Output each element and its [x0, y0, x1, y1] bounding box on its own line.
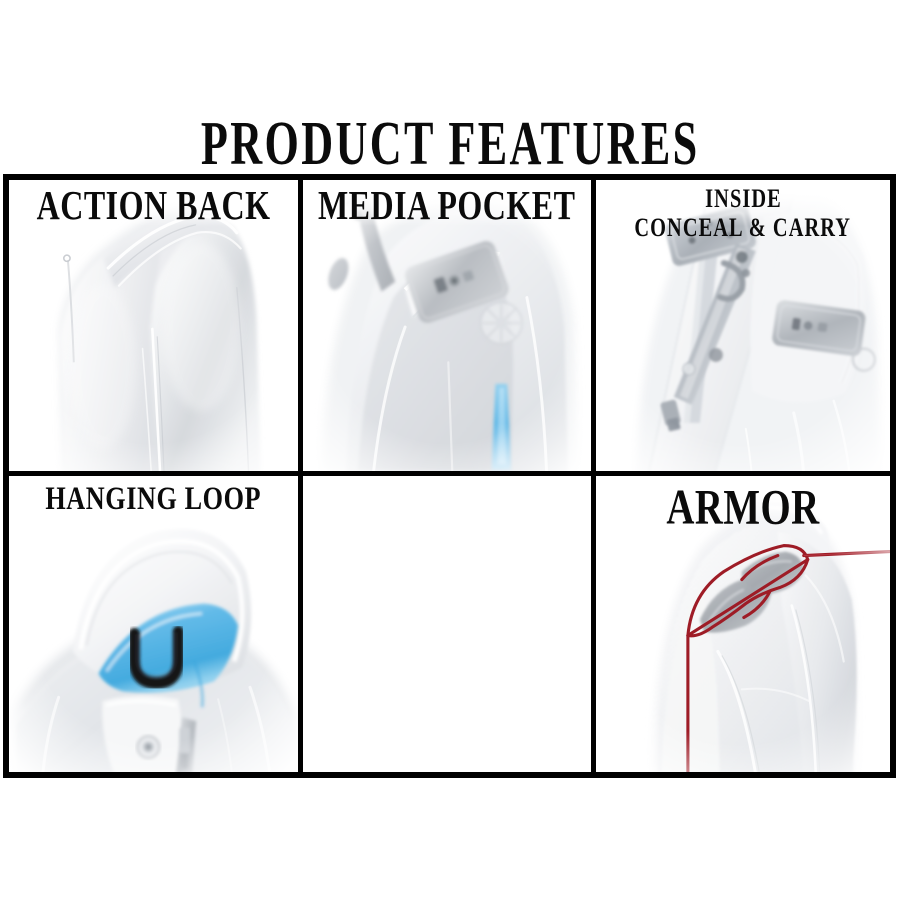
- page-title: PRODUCT FEATURES: [201, 114, 700, 176]
- action-back-photo: [9, 180, 298, 471]
- feature-cell-armor[interactable]: ARMOR: [596, 476, 890, 772]
- armor-photo: [596, 476, 890, 772]
- feature-cell-media-pocket[interactable]: MEDIA POCKET: [303, 180, 597, 476]
- media-pocket-photo: [303, 180, 592, 471]
- page-title-bar: PRODUCT FEATURES: [0, 114, 900, 161]
- hanging-loop-photo: [9, 476, 298, 772]
- feature-cell-inside-conceal-carry[interactable]: INSIDE CONCEAL & CARRY: [596, 180, 890, 476]
- feature-cell-action-back[interactable]: ACTION BACK: [9, 180, 303, 476]
- feature-cell-hanging-loop[interactable]: HANGING LOOP: [9, 476, 303, 772]
- feature-header-empty: [303, 482, 592, 500]
- product-features-grid: ACTION BACK: [3, 174, 896, 778]
- feature-cell-empty[interactable]: [303, 476, 597, 772]
- conceal-carry-photo: [596, 180, 890, 471]
